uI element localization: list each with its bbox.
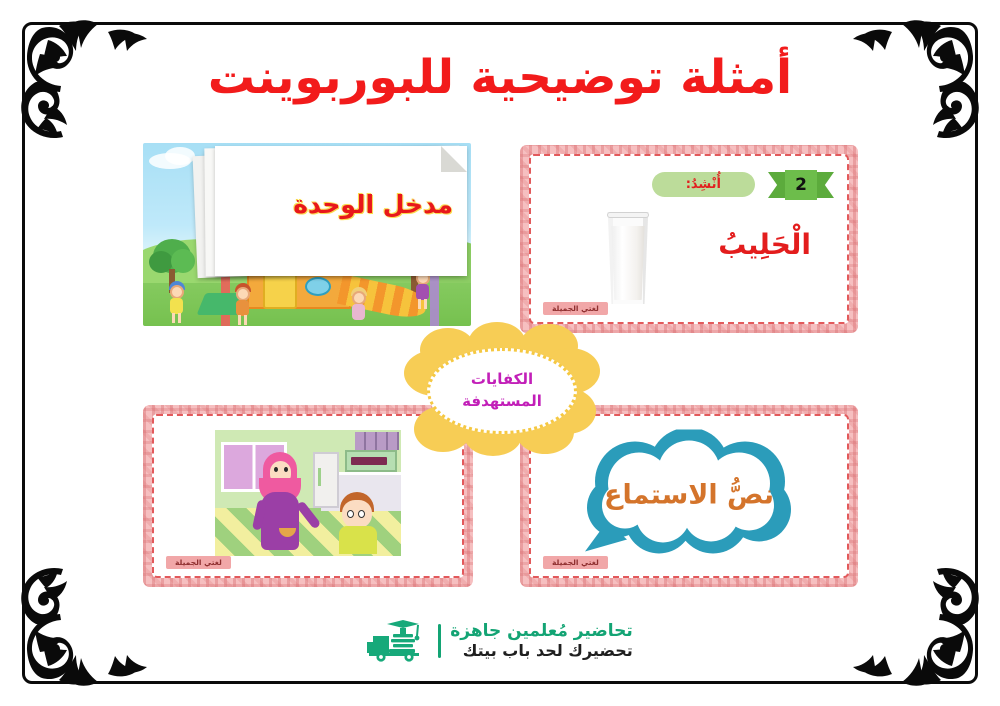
slide-thumbnail-entry[interactable]: مدخل الوحدة: [143, 143, 471, 326]
logo-divider: [438, 624, 441, 658]
milk-word-text: الْحَلِيبُ: [718, 228, 811, 261]
mother-figure: [255, 452, 309, 550]
anshud-pill-label: أُنْشِدُ:: [652, 172, 755, 197]
boy-figure: [337, 492, 379, 554]
kitchen-illustration: [215, 430, 401, 556]
oven-icon: [345, 450, 397, 472]
slide-thumbnail-milk[interactable]: أُنْشِدُ: 2 الْحَلِيبُ لغتي الجميلة: [520, 145, 858, 333]
slide-source-tag: لغتي الجميلة: [543, 302, 608, 315]
cabinet-icon: [355, 432, 399, 450]
footer-brand-logo[interactable]: تحاضير مُعلمين جاهزة تحضيرك لحد باب بيتك: [0, 620, 1000, 662]
competencies-line-1: الكفايات: [471, 369, 533, 391]
glass-of-milk-icon: [605, 212, 651, 304]
slide-source-tag: لغتي الجميلة: [543, 556, 608, 569]
competencies-flower[interactable]: الكفايات المستهدفة: [404, 328, 600, 454]
competencies-line-2: المستهدفة: [462, 391, 542, 413]
listening-text-label: نصُّ الاستماع: [531, 479, 847, 510]
lesson-number-value: 2: [785, 170, 817, 200]
truck-graduation-cap-icon: [367, 620, 429, 662]
playground-illustration: مدخل الوحدة: [143, 143, 471, 326]
brand-tagline: تحضيرك لحد باب بيتك: [450, 642, 633, 661]
page-title: أمثلة توضيحية للبوربوينت: [0, 52, 1000, 104]
competencies-label: الكفايات المستهدفة: [427, 348, 577, 434]
paper-sheet: مدخل الوحدة: [215, 146, 467, 276]
poster-page: أمثلة توضيحية للبوربوينت: [0, 0, 1000, 706]
fridge-icon: [313, 452, 339, 508]
brand-name: تحاضير مُعلمين جاهزة: [450, 622, 633, 642]
lesson-number-badge: 2: [768, 170, 834, 200]
slide-entry-heading: مدخل الوحدة: [293, 190, 453, 219]
slide-source-tag: لغتي الجميلة: [166, 556, 231, 569]
